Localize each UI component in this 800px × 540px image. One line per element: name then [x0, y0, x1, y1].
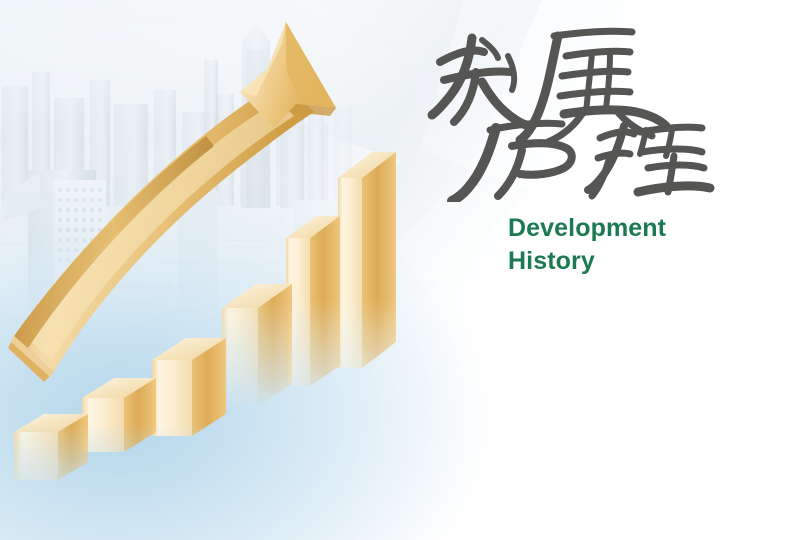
bar-3 [152, 338, 226, 436]
page-title: 发展历程 [424, 22, 754, 202]
char-fa [432, 38, 532, 126]
char-li [452, 123, 572, 201]
bar-2 [82, 378, 156, 452]
bar-6 [338, 152, 396, 368]
development-history-banner: 发展历程 [0, 0, 800, 540]
english-title: Development History [508, 212, 666, 278]
chinese-title-calligraphy: 发展历程 [424, 22, 724, 202]
bar-1 [14, 414, 88, 480]
bar-5 [286, 216, 340, 386]
bar-4 [222, 284, 292, 406]
